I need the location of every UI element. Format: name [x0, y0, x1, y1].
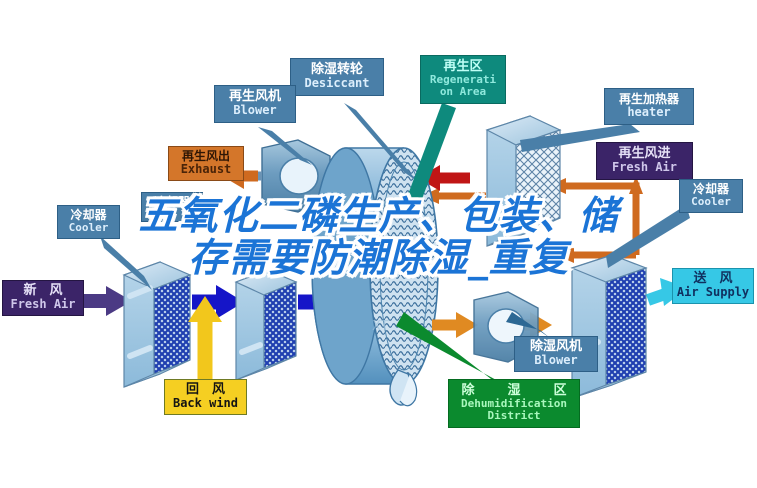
regeneration-heater-unit	[487, 116, 560, 246]
label-regeneration-fresh-air-in: 再生风进 Fresh Air	[596, 142, 693, 180]
desiccant-rotor-wheel: XT	[312, 148, 438, 384]
label-cooler-right-cn: 冷却器	[682, 183, 740, 196]
label-dehumidification-blower: 除湿风机 Blower	[514, 336, 598, 372]
label-fresh-air-in: 新 风 Fresh Air	[2, 280, 84, 316]
label-regeneration-heater-en: heater	[607, 106, 691, 119]
label-regeneration-blower-en: Blower	[217, 104, 293, 117]
label-fresh-air-in-en: Fresh Air	[5, 298, 81, 311]
overlay-title-line-2: 存需要防潮除湿_重复	[0, 238, 757, 280]
condensate-droplet-icon	[390, 370, 417, 406]
label-cooler-upper-left: 冷却器	[141, 192, 203, 222]
supply-cooler-unit	[572, 255, 646, 398]
label-regeneration-heater-cn: 再生加热器	[607, 93, 691, 106]
cooler-unit-middle	[236, 270, 296, 380]
label-air-supply-en: Air Supply	[675, 286, 751, 299]
label-back-wind-cn: 回 风	[167, 383, 244, 397]
label-desiccant-wheel-en: Desiccant	[293, 77, 381, 90]
label-back-wind: 回 风 Back wind	[164, 379, 247, 415]
label-desiccant-wheel-cn: 除湿转轮	[293, 63, 381, 77]
label-dehumidification-blower-cn: 除湿风机	[517, 340, 595, 354]
svg-text:XT: XT	[372, 319, 389, 334]
label-dehumidification-district: 除 湿 区 Dehumidification District	[448, 379, 580, 428]
label-regeneration-area: 再生区 Regenerati on Area	[420, 55, 506, 104]
label-dehumidification-district-en-2: District	[451, 410, 577, 422]
regeneration-hot-air-arrows	[304, 165, 470, 191]
label-cooler-right-en: Cooler	[682, 196, 740, 208]
label-dehumidification-district-cn: 除 湿 区	[451, 384, 577, 398]
label-regeneration-fresh-air-in-en: Fresh Air	[599, 161, 690, 174]
dehumidified-air-arrows	[432, 312, 552, 338]
label-cooler-left-en: Cooler	[60, 222, 117, 234]
label-cooler-upper-left-cn: 冷却器	[144, 196, 200, 209]
label-regeneration-blower-cn: 再生风机	[217, 90, 293, 104]
label-regeneration-heater: 再生加热器 heater	[604, 88, 694, 125]
label-regeneration-blower: 再生风机 Blower	[214, 85, 296, 123]
regeneration-duct	[421, 176, 643, 263]
label-air-supply: 送 风 Air Supply	[672, 268, 754, 304]
label-regeneration-exhaust-cn: 再生风出	[171, 150, 241, 163]
label-cooler-right: 冷却器 Cooler	[679, 179, 743, 213]
fresh-air-arrow	[84, 286, 132, 316]
label-back-wind-en: Back wind	[167, 397, 244, 410]
diagram-canvas: XT	[0, 0, 757, 488]
cooler-unit-left	[124, 262, 190, 387]
label-regeneration-area-en-2: on Area	[423, 86, 503, 98]
label-regeneration-exhaust-en: Exhaust	[171, 163, 241, 176]
label-desiccant-wheel: 除湿转轮 Desiccant	[290, 58, 384, 96]
back-wind-arrow	[188, 296, 222, 382]
label-air-supply-cn: 送 风	[675, 272, 751, 286]
label-dehumidification-blower-en: Blower	[517, 354, 595, 367]
label-cooler-left-cn: 冷却器	[60, 209, 117, 222]
label-regeneration-exhaust: 再生风出 Exhaust	[168, 146, 244, 181]
regeneration-blower-unit	[240, 140, 330, 212]
label-cooler-left: 冷却器 Cooler	[57, 205, 120, 239]
label-regeneration-fresh-air-in-cn: 再生风进	[599, 147, 690, 161]
label-fresh-air-in-cn: 新 风	[5, 284, 81, 298]
label-regeneration-area-cn: 再生区	[423, 60, 503, 74]
process-air-arrow-1	[192, 285, 244, 319]
process-air-arrow-2	[298, 285, 348, 319]
